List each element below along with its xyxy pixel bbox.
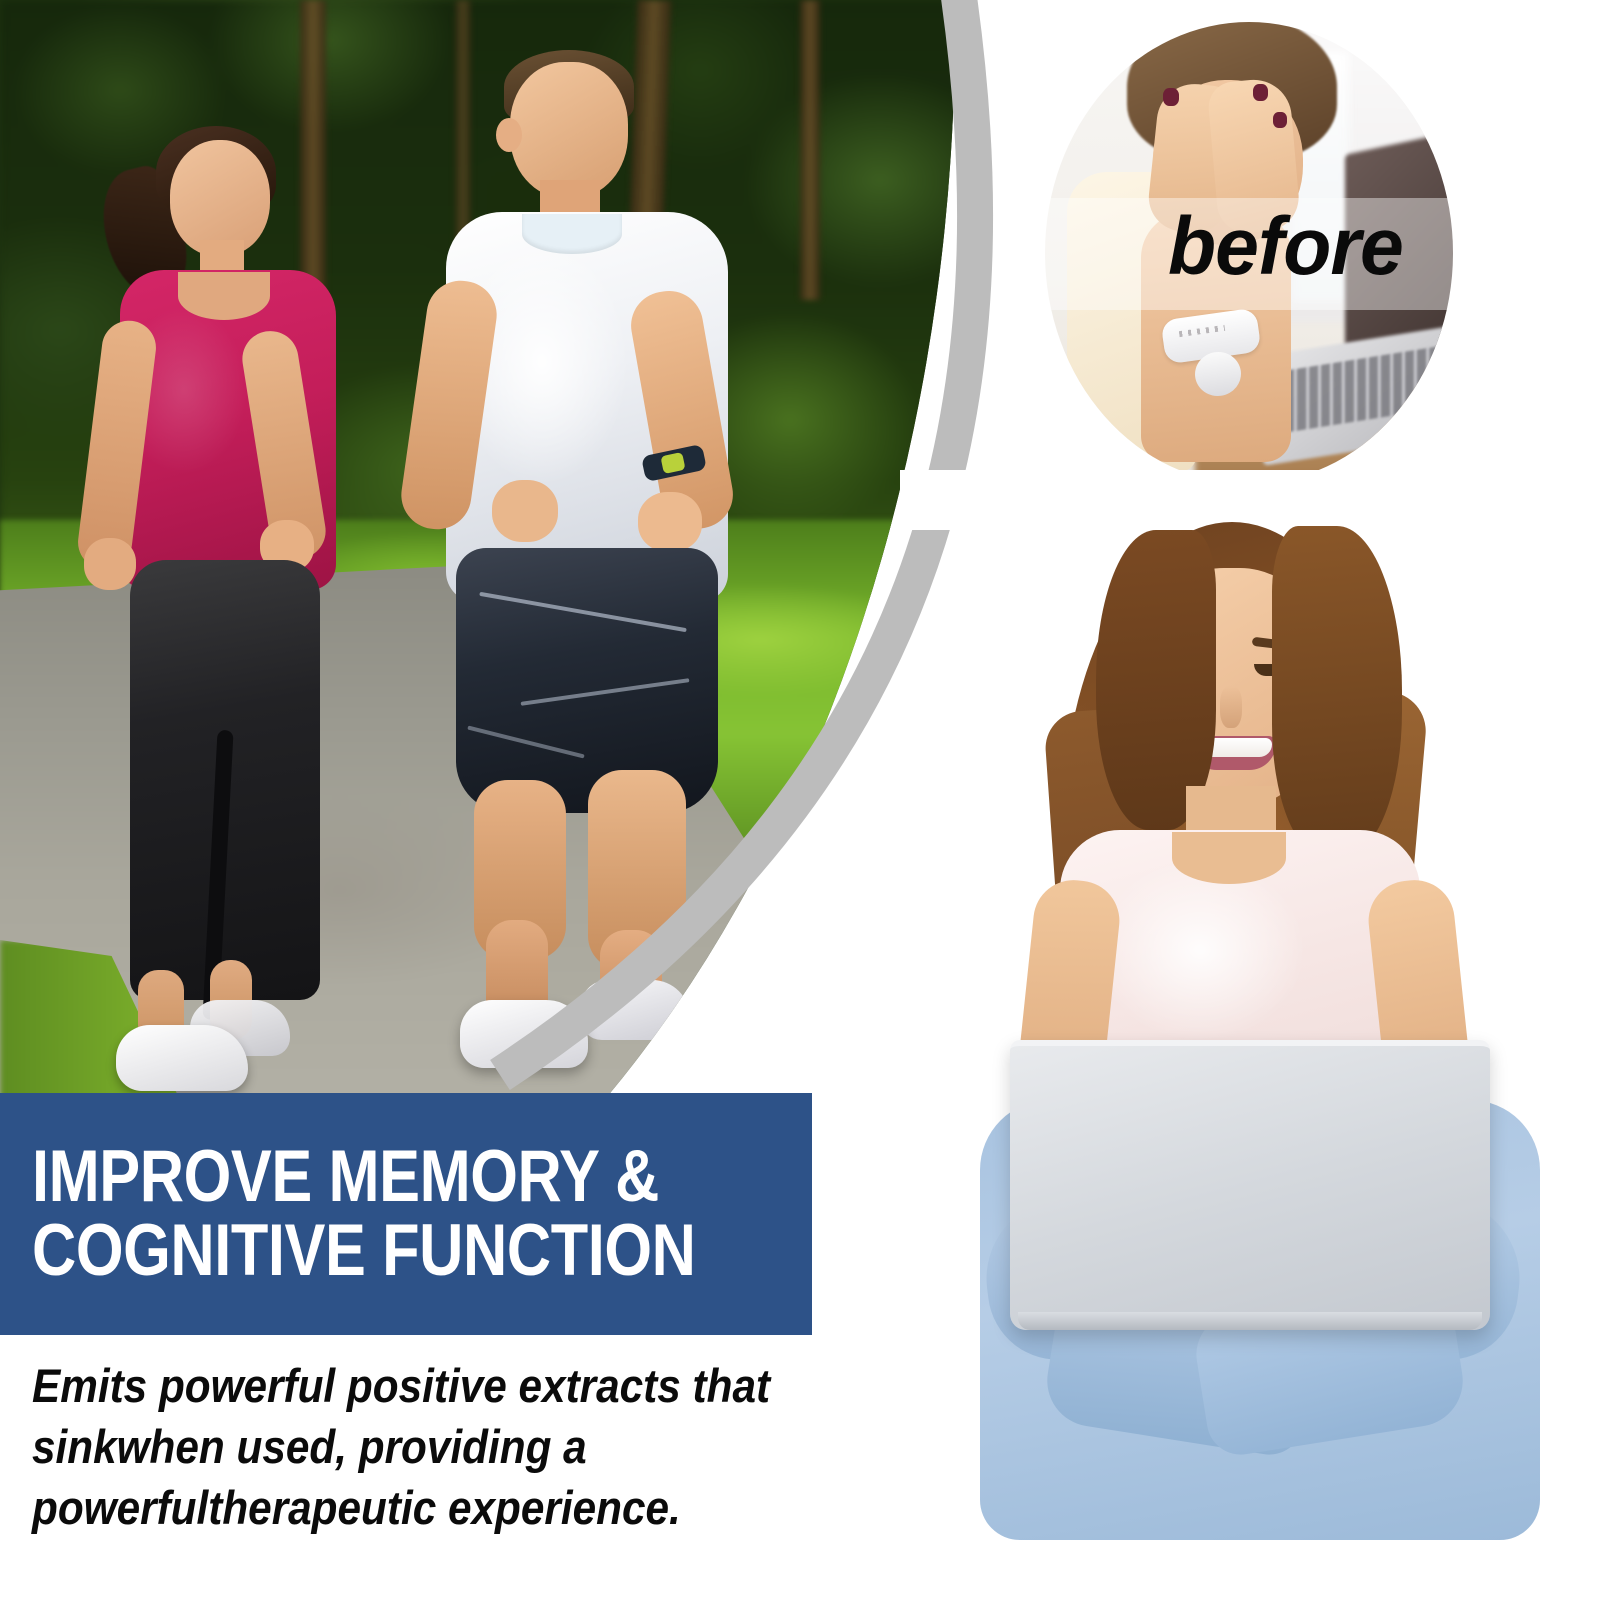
collar bbox=[522, 214, 622, 254]
hair-front-left bbox=[1096, 530, 1216, 830]
left-fist bbox=[492, 480, 558, 542]
hero-photo-background bbox=[0, 0, 1000, 1095]
head bbox=[170, 140, 270, 256]
infographic-canvas: IMPROVE MEMORY & COGNITIVE FUNCTION Emit… bbox=[0, 0, 1600, 1600]
headline-line-1: IMPROVE MEMORY & bbox=[32, 1140, 687, 1214]
male-runner bbox=[400, 40, 800, 1080]
collar bbox=[1172, 832, 1286, 884]
fingernail bbox=[1253, 84, 1268, 101]
before-label: before bbox=[1168, 206, 1403, 288]
headline-line-2: COGNITIVE FUNCTION bbox=[32, 1214, 687, 1288]
body-copy-line-2: sinkwhen used, providing a bbox=[32, 1416, 716, 1477]
body-copy: Emits powerful positive extracts that si… bbox=[32, 1355, 716, 1538]
left-fist bbox=[84, 538, 136, 590]
collar bbox=[178, 272, 270, 320]
hero-photo-runners bbox=[0, 0, 1000, 1095]
headline-band: IMPROVE MEMORY & COGNITIVE FUNCTION bbox=[0, 1093, 812, 1335]
right-fist bbox=[638, 492, 702, 552]
tree-trunk bbox=[800, 0, 820, 300]
hero-photo-clip bbox=[0, 0, 1000, 1095]
silver-laptop bbox=[1010, 1040, 1490, 1330]
body-copy-line-3: powerfultherapeutic experience. bbox=[32, 1477, 716, 1538]
after-photo-woman-with-laptop bbox=[900, 500, 1600, 1600]
head bbox=[510, 62, 628, 198]
left-running-shoe bbox=[460, 1000, 588, 1068]
right-running-shoe bbox=[580, 980, 690, 1040]
laptop-hinge bbox=[1018, 1312, 1482, 1330]
nose bbox=[1220, 686, 1242, 728]
left-running-shoe bbox=[116, 1025, 248, 1091]
fingernail bbox=[1163, 88, 1179, 106]
fingernail bbox=[1273, 112, 1287, 128]
ear bbox=[496, 118, 522, 152]
female-runner bbox=[60, 120, 390, 1080]
body-copy-line-1: Emits powerful positive extracts that bbox=[32, 1355, 716, 1416]
hair-front-right bbox=[1272, 526, 1402, 856]
